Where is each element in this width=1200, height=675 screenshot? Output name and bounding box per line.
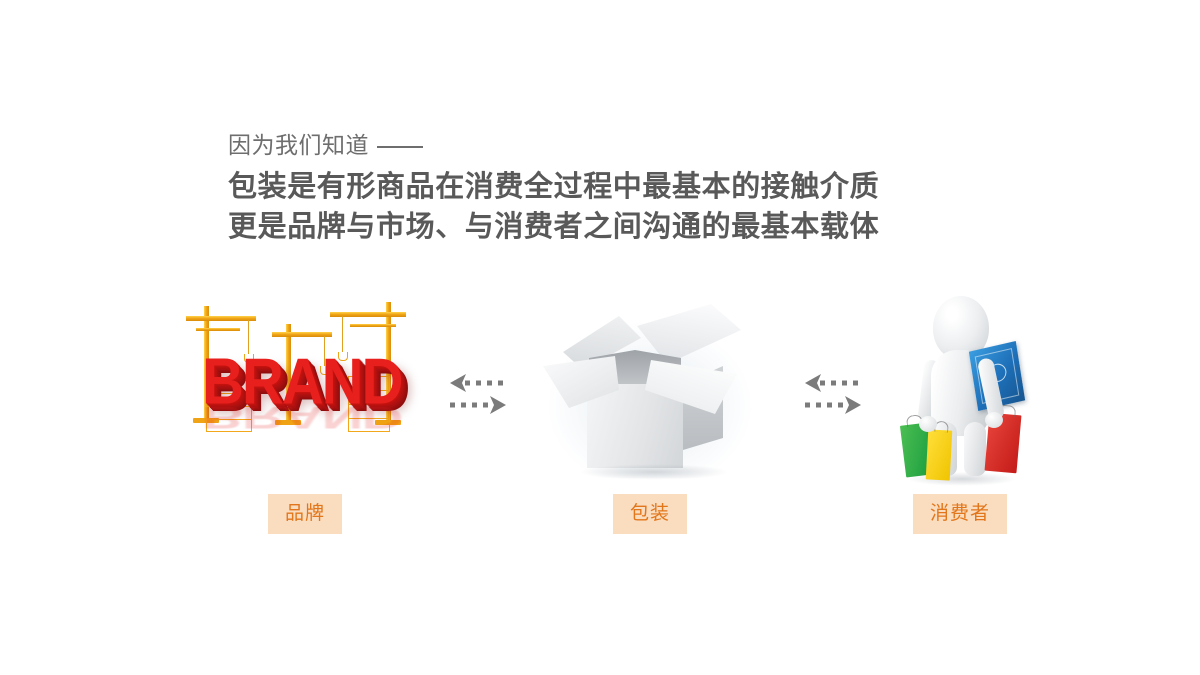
dotted-arrows-icon — [428, 370, 528, 418]
arrowhead-right-icon — [490, 396, 506, 414]
slide-canvas: 因为我们知道 包装是有形商品在消费全过程中最基本的接触介质 更是品牌与市场、与消… — [0, 0, 1200, 675]
brand-word-reflection: BRAND — [202, 399, 401, 436]
node-label-consumer[interactable]: 消费者 — [913, 494, 1007, 534]
node-label-package[interactable]: 包装 — [613, 494, 687, 534]
heading-block: 因为我们知道 包装是有形商品在消费全过程中最基本的接触介质 更是品牌与市场、与消… — [228, 130, 988, 244]
person-leg-right — [964, 422, 986, 476]
person-hand-left — [919, 416, 937, 432]
brand-3d-text-with-cranes-icon: BRAND BRAND — [180, 288, 430, 488]
headline-line-2: 更是品牌与市场、与消费者之间沟通的最基本载体 — [228, 210, 988, 244]
node-label-brand[interactable]: 品牌 — [268, 494, 342, 534]
headline-line-1: 包装是有形商品在消费全过程中最基本的接触介质 — [228, 170, 988, 204]
diagram-node-consumer[interactable]: 消费者 — [835, 288, 1085, 558]
em-dash-rule — [377, 146, 423, 148]
3d-person-with-shopping-bags-icon — [835, 288, 1085, 488]
arrowhead-left-icon — [450, 374, 466, 392]
connector-brand-package — [428, 370, 528, 418]
process-diagram: BRAND BRAND 品牌 — [0, 288, 1200, 558]
consumer-artwork — [835, 288, 1085, 488]
kicker-line: 因为我们知道 — [228, 130, 988, 160]
diagram-node-brand[interactable]: BRAND BRAND 品牌 — [180, 288, 430, 558]
arrowhead-left-icon — [805, 374, 821, 392]
box-drop-shadow — [579, 464, 729, 480]
kicker-text: 因为我们知道 — [228, 132, 369, 158]
open-cardboard-box-icon — [525, 288, 775, 488]
package-artwork — [525, 288, 775, 488]
diagram-node-package[interactable]: 包装 — [525, 288, 775, 558]
person-hand-right — [985, 412, 1003, 428]
shopping-bag-yellow-icon — [926, 429, 953, 480]
brand-artwork: BRAND BRAND — [180, 288, 430, 488]
